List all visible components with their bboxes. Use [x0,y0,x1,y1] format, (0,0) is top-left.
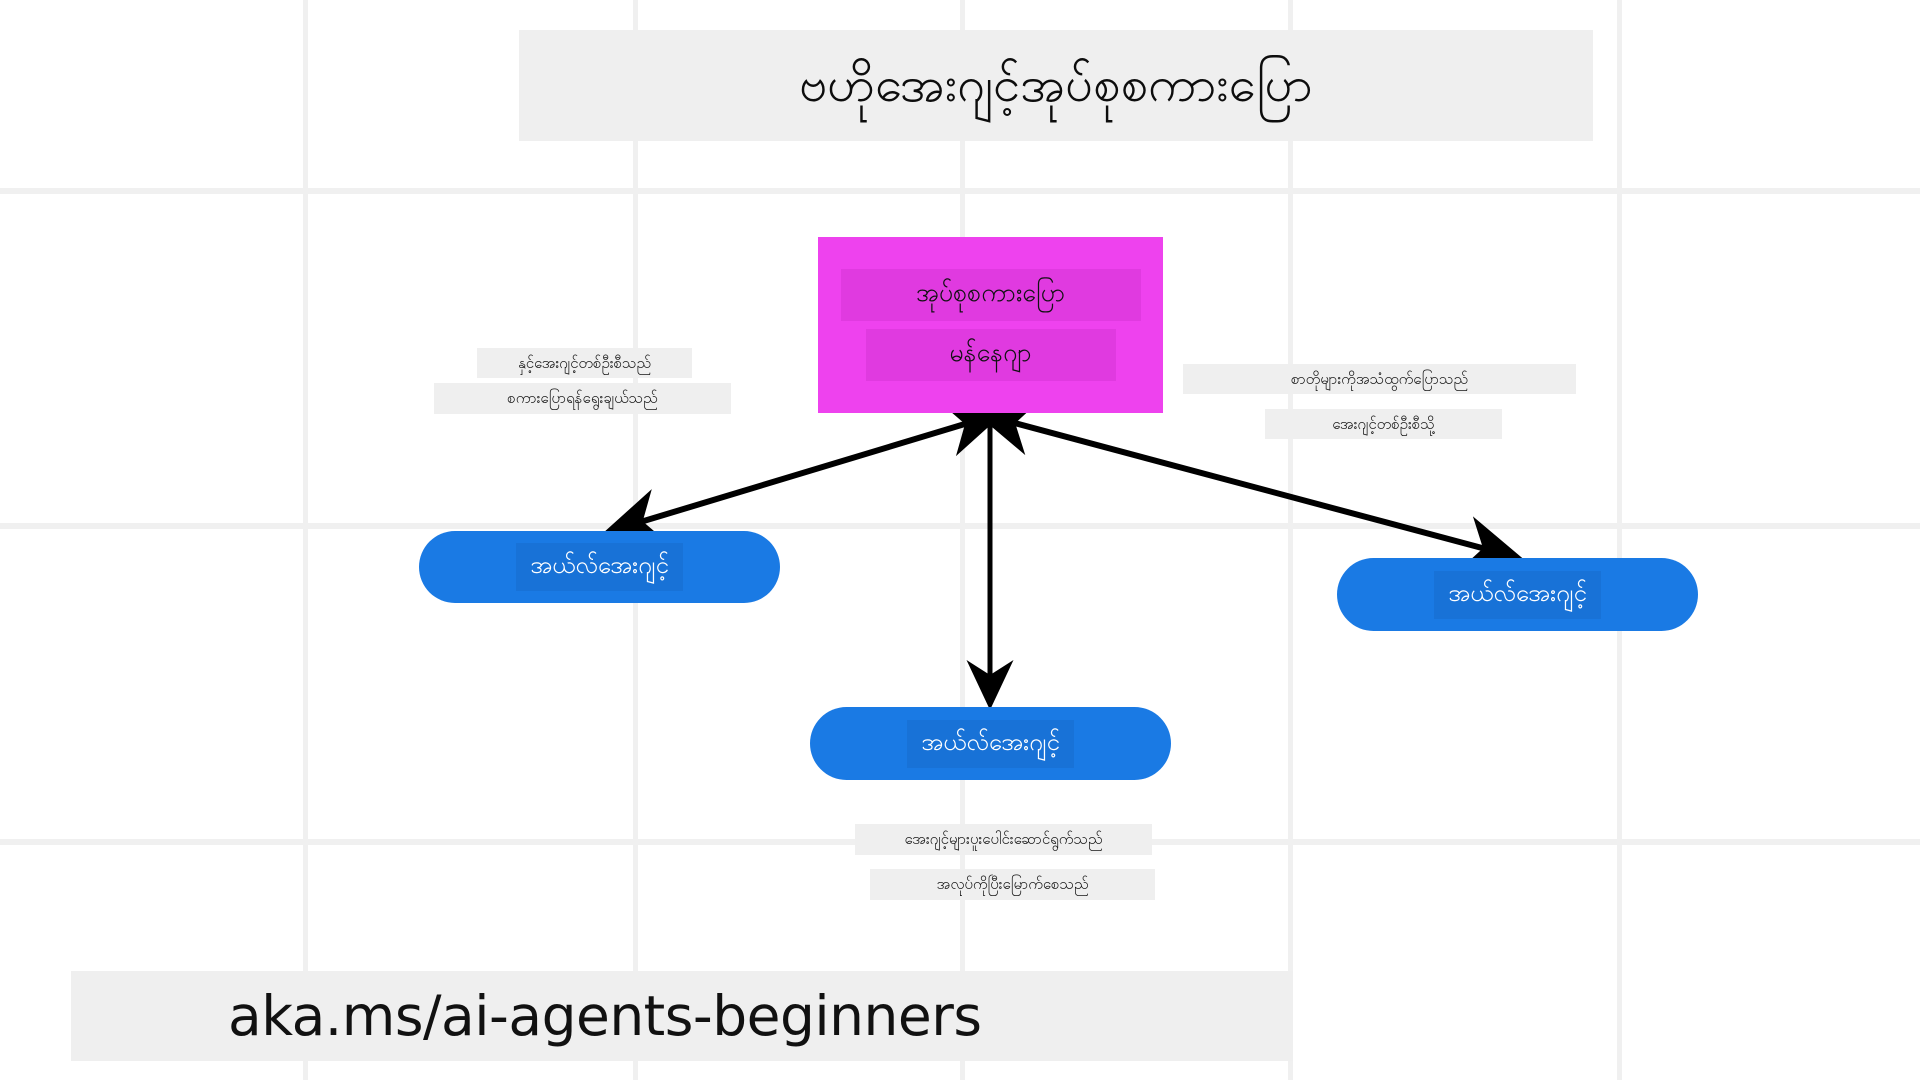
group-chat-manager-node[interactable]: အုပ်စုစကားပြော မန်နေဂျာ [818,237,1163,413]
agent-node-right-label: အယ်လ်အေးဂျင့် [1448,577,1587,613]
slide-canvas: ဗဟိုအေးဂျင့်အုပ်စုစကားပြော အုပ်စုစကားပြေ… [0,0,1920,1080]
annotation-right-line-1: စာတိုများကိုအသံထွက်ပြောသည် [1183,364,1576,394]
agent-node-right-inner: အယ်လ်အေးဂျင့် [1434,571,1601,619]
annotation-bottom-line-2: အလုပ်ကိုပြီးမြောက်စေသည် [870,869,1155,900]
manager-node-line-2: မန်နေဂျာ [866,329,1116,381]
agent-node-right[interactable]: အယ်လ်အေးဂျင့် [1337,558,1698,631]
connector-arrows [0,0,1920,1080]
annotation-left-line-1: နှင့်အေးဂျင့်တစ်ဦးစီသည် [477,348,692,378]
manager-node-line-1: အုပ်စုစကားပြော [841,269,1141,321]
grid-line-horizontal [0,188,1920,194]
agent-node-left-label: အယ်လ်အေးဂျင့် [530,549,669,585]
grid-line-vertical [1617,0,1622,1080]
agent-node-bottom-label: အယ်လ်အေးဂျင့် [921,726,1060,762]
agent-node-bottom-inner: အယ်လ်အေးဂျင့် [907,720,1074,768]
page-title-band: ဗဟိုအေးဂျင့်အုပ်စုစကားပြော [519,30,1593,141]
footer-band: aka.ms/ai-agents-beginners [71,971,1293,1061]
agent-node-left-inner: အယ်လ်အေးဂျင့် [516,543,683,591]
background-grid [0,0,1920,1080]
page-title: ဗဟိုအေးဂျင့်အုပ်စုစကားပြော [799,57,1312,113]
grid-line-horizontal [0,523,1920,529]
annotation-right-line-2: အေးဂျင့်တစ်ဦးစီသို့ [1265,409,1502,439]
grid-line-vertical [303,0,308,1080]
grid-line-vertical [1288,0,1293,1080]
annotation-bottom-line-1: အေးဂျင့်များပူးပေါင်းဆောင်ရွက်သည် [855,824,1152,855]
arrow-manager-to-left-agent [614,417,988,530]
agent-node-bottom[interactable]: အယ်လ်အေးဂျင့် [810,707,1171,780]
grid-line-vertical [960,0,965,1080]
annotation-left-line-2: စကားပြောရန်ရွေးချယ်သည် [434,383,731,414]
footer-url[interactable]: aka.ms/ai-agents-beginners [228,984,982,1048]
agent-node-left[interactable]: အယ်လ်အေးဂျင့် [419,531,780,603]
